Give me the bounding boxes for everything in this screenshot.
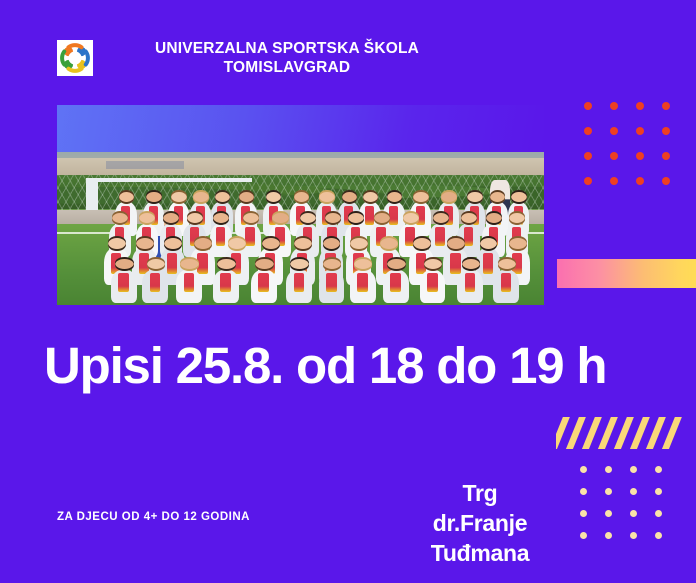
decorative-dot bbox=[584, 152, 592, 160]
photo-child-head bbox=[171, 192, 186, 204]
photo-child-head bbox=[228, 238, 246, 251]
photo-child-medal bbox=[220, 273, 231, 292]
decorative-dot bbox=[662, 102, 670, 110]
photo-child-head bbox=[413, 238, 431, 251]
photo-child-head bbox=[147, 259, 166, 271]
photo-child-medal bbox=[450, 253, 460, 274]
cream-dot-grid bbox=[571, 458, 671, 546]
photo-child-head bbox=[363, 192, 378, 204]
photo-child-head bbox=[424, 259, 443, 271]
photo-child-head bbox=[462, 259, 481, 271]
photo-child-medal bbox=[390, 273, 401, 292]
poster-canvas: UNIVERZALNA SPORTSKA ŠKOLA TOMISLAVGRAD … bbox=[0, 0, 696, 583]
photo-child-head bbox=[262, 238, 280, 251]
photo-child-head bbox=[146, 192, 161, 204]
address-line-3: Tuđmana bbox=[400, 538, 560, 568]
photo-child-head bbox=[325, 213, 341, 225]
photo-wall-sign bbox=[106, 161, 184, 169]
photo-child-medal bbox=[389, 206, 398, 225]
photo-child-head bbox=[217, 259, 236, 271]
photo-goal-crossbar bbox=[86, 178, 252, 182]
photo-child-head bbox=[323, 238, 341, 251]
circle-of-people-logo bbox=[57, 40, 93, 76]
decorative-dot bbox=[610, 127, 618, 135]
photo-child-medal bbox=[150, 273, 161, 292]
photo-child-medal bbox=[357, 273, 368, 292]
photo-child-head bbox=[413, 192, 428, 204]
photo-child-head bbox=[498, 259, 517, 271]
photo-child-head bbox=[136, 238, 154, 251]
diagonal-stripes bbox=[556, 417, 696, 449]
photo-child-head bbox=[350, 238, 368, 251]
decorative-dot bbox=[605, 532, 612, 539]
photo-child-head bbox=[115, 259, 134, 271]
photo-child-head bbox=[509, 238, 527, 251]
photo-child-head bbox=[164, 238, 182, 251]
headline: Upisi 25.8. od 18 do 19 h bbox=[44, 336, 644, 396]
decorative-dot bbox=[655, 510, 662, 517]
decorative-dot bbox=[655, 532, 662, 539]
photo-child-head bbox=[387, 259, 406, 271]
group-photo bbox=[57, 152, 544, 305]
photo-child-head bbox=[255, 259, 274, 271]
photo-child-head bbox=[323, 259, 342, 271]
photo-child-head bbox=[194, 238, 212, 251]
decorative-dot bbox=[580, 488, 587, 495]
address-block: Trg dr.Franje Tuđmana bbox=[400, 478, 560, 568]
decorative-dot bbox=[605, 510, 612, 517]
photo-child-medal bbox=[167, 253, 177, 274]
decorative-dot bbox=[584, 177, 592, 185]
address-line-1: Trg bbox=[400, 478, 560, 508]
decorative-dot bbox=[580, 466, 587, 473]
blue-gradient-band bbox=[57, 105, 544, 153]
photo-child-head bbox=[467, 192, 482, 204]
brand-title: UNIVERZALNA SPORTSKA ŠKOLA TOMISLAVGRAD bbox=[93, 38, 477, 77]
photo-child-head bbox=[441, 192, 456, 204]
decorative-dot bbox=[655, 488, 662, 495]
decorative-dot bbox=[630, 488, 637, 495]
decorative-dot bbox=[580, 510, 587, 517]
photo-child-head bbox=[119, 192, 134, 204]
photo-child-medal bbox=[464, 227, 473, 246]
decorative-dot bbox=[662, 127, 670, 135]
pink-yellow-gradient-bar bbox=[557, 259, 696, 288]
photo-child-head bbox=[387, 192, 402, 204]
photo-child-head bbox=[294, 238, 312, 251]
decorative-dot bbox=[636, 152, 644, 160]
photo-child-head bbox=[319, 192, 334, 204]
photo-child-medal bbox=[118, 273, 129, 292]
photo-child-medal bbox=[501, 273, 512, 292]
decorative-dot bbox=[610, 152, 618, 160]
decorative-dot bbox=[580, 532, 587, 539]
photo-child-medal bbox=[294, 273, 305, 292]
photo-child-medal bbox=[258, 273, 269, 292]
photo-child-medal bbox=[326, 273, 337, 292]
decorative-dot bbox=[630, 532, 637, 539]
photo-child-medal bbox=[435, 227, 444, 246]
address-line-2: dr.Franje bbox=[400, 508, 560, 538]
photo-child-head bbox=[243, 213, 259, 225]
brand-line-1: UNIVERZALNA SPORTSKA ŠKOLA bbox=[155, 40, 419, 57]
decorative-dot bbox=[610, 177, 618, 185]
photo-child-head bbox=[239, 192, 254, 204]
photo-child-head bbox=[490, 192, 505, 204]
photo-child-medal bbox=[483, 253, 493, 274]
photo-child-head bbox=[342, 192, 357, 204]
decorative-dot bbox=[584, 102, 592, 110]
photo-child-head bbox=[447, 238, 465, 251]
photo-child-medal bbox=[365, 206, 374, 225]
photo-child-head bbox=[380, 238, 398, 251]
photo-child-medal bbox=[216, 227, 225, 246]
photo-child-medal bbox=[197, 253, 207, 274]
age-note: ZA DJECU OD 4+ DO 12 GODINA bbox=[57, 511, 250, 523]
decorative-dot bbox=[662, 152, 670, 160]
photo-child-head bbox=[180, 259, 199, 271]
photo-child-medal bbox=[427, 273, 438, 292]
photo-child-head bbox=[374, 213, 390, 225]
decorative-dot bbox=[630, 510, 637, 517]
photo-child-medal bbox=[245, 227, 254, 246]
decorative-dot bbox=[636, 102, 644, 110]
decorative-dot bbox=[605, 488, 612, 495]
photo-child-head bbox=[272, 213, 288, 225]
photo-child-head bbox=[480, 238, 498, 251]
decorative-dot bbox=[636, 177, 644, 185]
decorative-dot bbox=[584, 127, 592, 135]
header: UNIVERZALNA SPORTSKA ŠKOLA TOMISLAVGRAD bbox=[57, 38, 477, 88]
decorative-dot bbox=[662, 177, 670, 185]
photo-child-head bbox=[403, 213, 419, 225]
decorative-dot bbox=[630, 466, 637, 473]
decorative-dot bbox=[605, 466, 612, 473]
decorative-dot bbox=[636, 127, 644, 135]
photo-child-medal bbox=[465, 273, 476, 292]
photo-child-head bbox=[108, 238, 126, 251]
brand-line-2: TOMISLAVGRAD bbox=[97, 58, 477, 77]
photo-child-head bbox=[215, 192, 230, 204]
decorative-dot bbox=[610, 102, 618, 110]
photo-child-head bbox=[294, 192, 309, 204]
photo-child-head bbox=[193, 192, 208, 204]
decorative-dot bbox=[655, 466, 662, 473]
photo-child-head bbox=[511, 192, 526, 204]
photo-child-head bbox=[290, 259, 309, 271]
red-dot-grid bbox=[575, 93, 679, 193]
photo-child-medal bbox=[184, 273, 195, 292]
photo-child-head bbox=[433, 213, 449, 225]
photo-child-head bbox=[266, 192, 281, 204]
photo-child-head bbox=[486, 213, 502, 225]
